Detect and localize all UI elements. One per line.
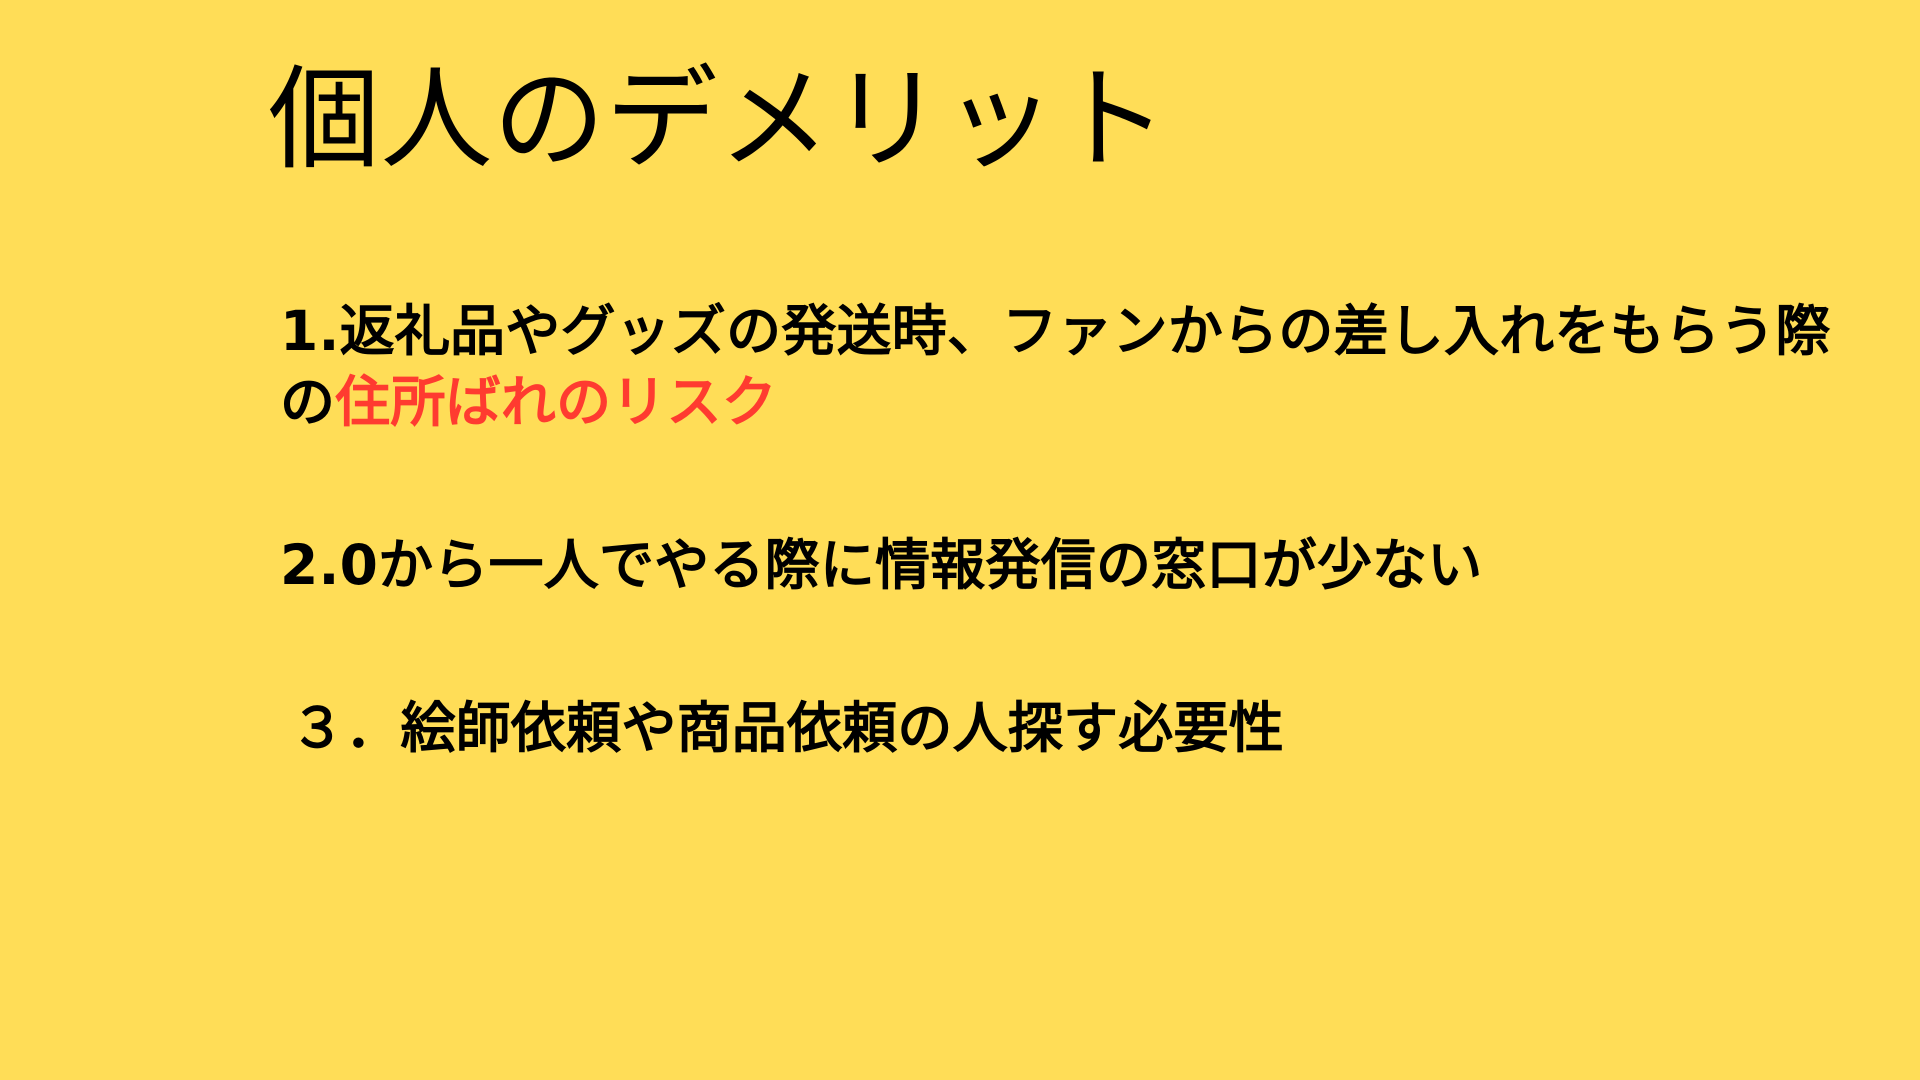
slide-title: 個人のデメリット [268, 58, 1168, 183]
list-item: 2.0から一人でやる際に情報発信の窓口が少ない [280, 530, 1840, 601]
list-item-text: ３．絵師依頼や商品依頼の人探す必要性 [290, 696, 1284, 760]
slide-canvas: 個人のデメリット 1.返礼品やグッズの発送時、ファンからの差し入れをもらう際の住… [0, 0, 1920, 1080]
highlighted-text: 住所ばれのリスク [335, 370, 777, 434]
list-item-text: 2.0から一人でやる際に情報発信の窓口が少ない [280, 533, 1483, 597]
list-item: ３．絵師依頼や商品依頼の人探す必要性 [280, 693, 1840, 764]
bullet-list: 1.返礼品やグッズの発送時、ファンからの差し入れをもらう際の住所ばれのリスク2.… [280, 296, 1840, 764]
list-item: 1.返礼品やグッズの発送時、ファンからの差し入れをもらう際の住所ばれのリスク [280, 296, 1840, 438]
